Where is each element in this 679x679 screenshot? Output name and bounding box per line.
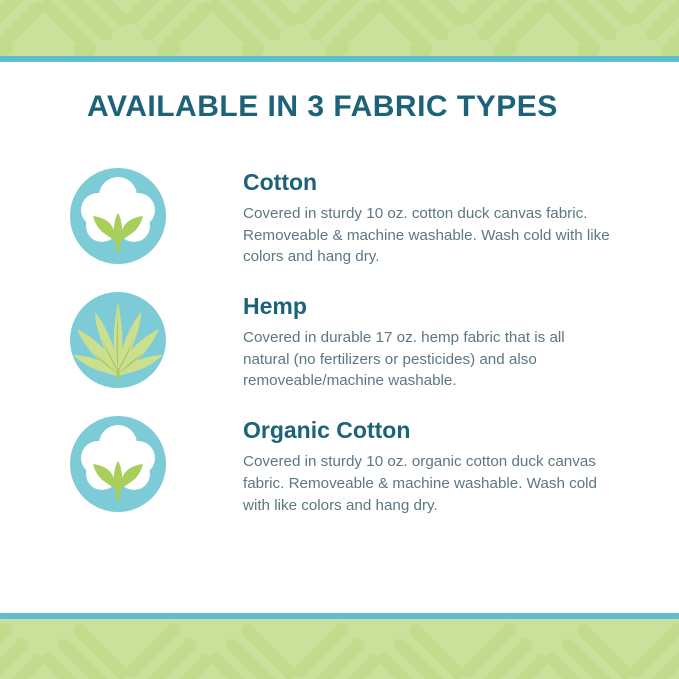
top-decorative-banner (0, 0, 679, 56)
hemp-leaf-icon (68, 290, 168, 390)
list-item-text: Cotton Covered in sturdy 10 oz. cotton d… (243, 166, 613, 268)
fabric-heading: Organic Cotton (243, 418, 613, 443)
fabric-description: Covered in sturdy 10 oz. organic cotton … (243, 451, 613, 516)
cotton-boll-icon (68, 414, 168, 514)
list-item: Cotton Covered in sturdy 10 oz. cotton d… (0, 166, 679, 268)
diagonal-stripe-pattern-icon (0, 619, 679, 679)
list-item-text: Hemp Covered in durable 17 oz. hemp fabr… (243, 290, 613, 392)
fabric-description: Covered in sturdy 10 oz. cotton duck can… (243, 203, 613, 268)
list-item: Organic Cotton Covered in sturdy 10 oz. … (0, 414, 679, 516)
diagonal-stripe-pattern-icon (0, 0, 679, 56)
fabric-list: Cotton Covered in sturdy 10 oz. cotton d… (0, 166, 679, 538)
bottom-decorative-banner (0, 619, 679, 679)
cotton-boll-icon (68, 166, 168, 266)
fabric-heading: Hemp (243, 294, 613, 319)
fabric-heading: Cotton (243, 170, 613, 195)
fabric-description: Covered in durable 17 oz. hemp fabric th… (243, 327, 613, 392)
list-item: Hemp Covered in durable 17 oz. hemp fabr… (0, 290, 679, 392)
list-item-text: Organic Cotton Covered in sturdy 10 oz. … (243, 414, 613, 516)
main-content: AVAILABLE IN 3 FABRIC TYPES (0, 62, 679, 612)
page-title: AVAILABLE IN 3 FABRIC TYPES (87, 90, 558, 124)
